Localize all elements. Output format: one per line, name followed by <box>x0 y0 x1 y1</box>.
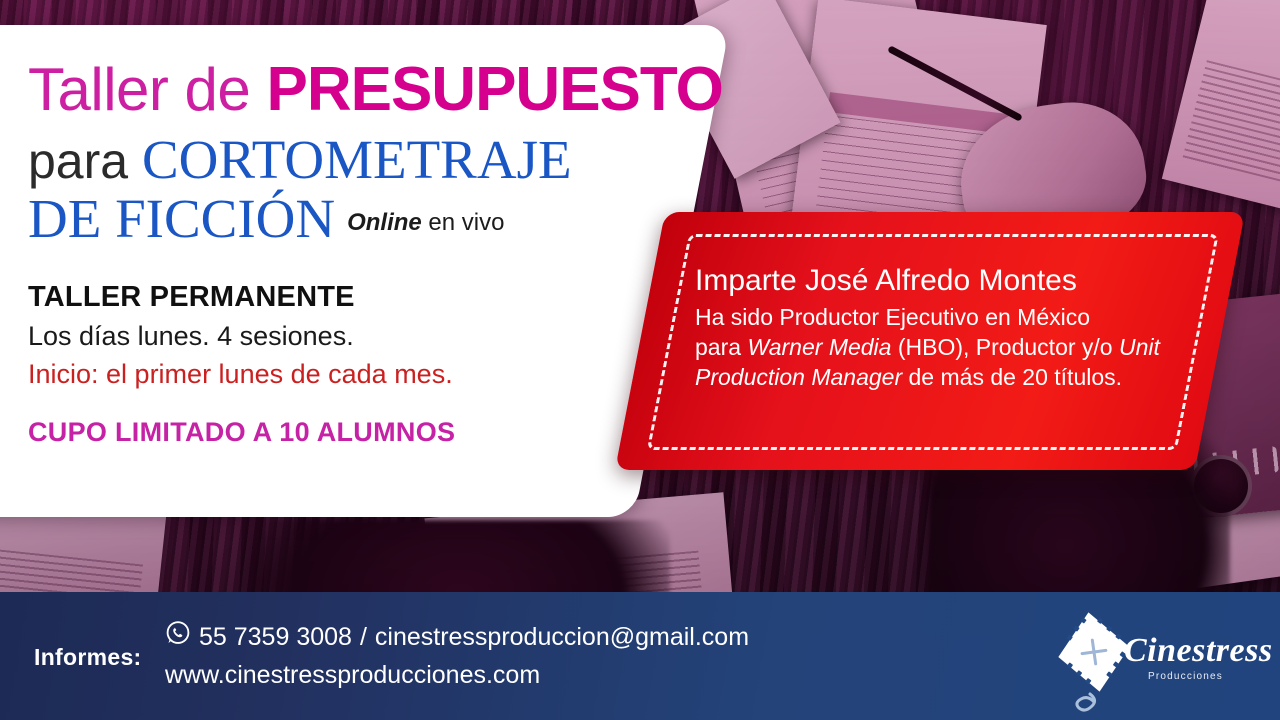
seat-limit-notice: CUPO LIMITADO A 10 ALUMNOS <box>28 417 700 448</box>
footer-content: Informes: 55 7359 3008 / cinestressprodu… <box>0 592 1280 720</box>
contact-phone[interactable]: 55 7359 3008 <box>199 622 352 653</box>
cinestress-logo: Cinestress Producciones <box>1042 608 1252 712</box>
headline-online: Online <box>347 209 422 236</box>
headline-para: para <box>28 133 142 189</box>
instructor-bio-production-manager: Production Manager <box>695 364 902 390</box>
headline-taller-de: Taller de <box>28 56 266 123</box>
logo-name: Cinestress <box>1124 634 1273 668</box>
schedule-permanent: TALLER PERMANENTE <box>28 281 700 314</box>
instructor-bio-unit: Unit <box>1119 334 1160 360</box>
instructor-card-content: Imparte José Alfredo Montes Ha sido Prod… <box>650 212 1220 470</box>
logo-tagline: Producciones <box>1148 671 1273 682</box>
logo-wrap: Cinestress Producciones <box>1042 608 1252 712</box>
contact-row-phone-email: 55 7359 3008 / cinestressproduccion@gmai… <box>165 620 749 654</box>
contact-email[interactable]: cinestressproduccion@gmail.com <box>375 622 749 653</box>
headline-cortometraje: CORTOMETRAJE <box>142 129 572 190</box>
contact-block: 55 7359 3008 / cinestressproduccion@gmai… <box>165 620 749 692</box>
headline-en-vivo: en vivo <box>422 209 505 236</box>
instructor-bio-line-3-rest: de más de 20 títulos. <box>902 364 1122 390</box>
headline-presupuesto: PRESUPUESTO <box>266 55 722 124</box>
whatsapp-icon <box>165 620 191 654</box>
headline-line-1: Taller de PRESUPUESTO <box>28 59 700 121</box>
instructor-bio: Ha sido Productor Ejecutivo en México pa… <box>695 302 1174 393</box>
instructor-bio-pre: para <box>695 334 747 360</box>
promo-poster: Taller de PRESUPUESTO para CORTOMETRAJE … <box>0 0 1280 720</box>
logo-text: Cinestress Producciones <box>1124 634 1273 682</box>
contact-separator: / <box>360 622 367 653</box>
footer-label: Informes: <box>34 644 142 671</box>
headline-de-ficcion: DE FICCIÓN <box>28 188 335 249</box>
headline-line-2: para CORTOMETRAJE <box>28 131 700 188</box>
schedule-start: Inicio: el primer lunes de cada mes. <box>28 359 700 390</box>
instructor-bio-warner-media: Warner Media <box>747 334 891 360</box>
contact-website[interactable]: www.cinestressproducciones.com <box>165 660 749 691</box>
schedule-days: Los días lunes. 4 sesiones. <box>28 321 700 352</box>
instructor-name: Imparte José Alfredo Montes <box>695 264 1174 298</box>
footer-bar: Informes: 55 7359 3008 / cinestressprodu… <box>0 592 1280 720</box>
schedule-block: TALLER PERMANENTE Los días lunes. 4 sesi… <box>28 281 700 390</box>
instructor-bio-line-1: Ha sido Productor Ejecutivo en México <box>695 304 1090 330</box>
instructor-bio-mid: (HBO), Productor y/o <box>891 334 1119 360</box>
headline-block: Taller de PRESUPUESTO para CORTOMETRAJE … <box>0 25 700 517</box>
headline-line-3: DE FICCIÓNOnline en vivo <box>28 190 700 247</box>
